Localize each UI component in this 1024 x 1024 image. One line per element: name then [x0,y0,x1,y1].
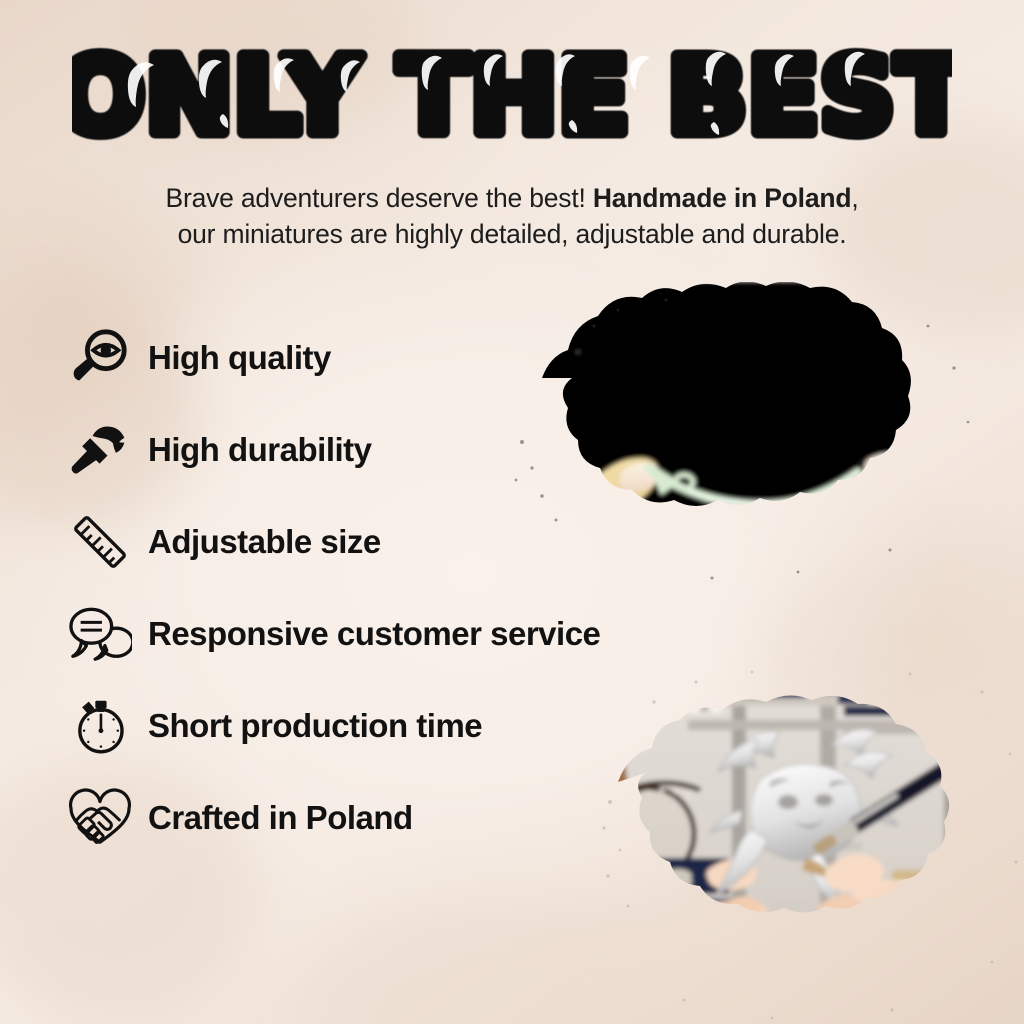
subtitle-line1-tail: , [851,183,858,213]
feature-label: Adjustable size [148,523,381,561]
speech-bubbles-icon [64,599,136,669]
feature-label: Crafted in Poland [148,799,413,837]
subtitle-line2: our miniatures are highly detailed, adju… [178,219,847,249]
painting-workshop-photo [592,662,1024,1024]
subtitle-line1-lead: Brave adventurers deserve the best! [165,183,585,213]
subtitle-highlight: Handmade in Poland [593,183,852,213]
subtitle: Brave adventurers deserve the best! Hand… [62,180,962,252]
hammer-icon [64,415,136,485]
page-title: ONLY THE BEST [0,36,1024,166]
feature-label: High durability [148,431,372,469]
feature-label: High quality [148,339,331,377]
feature-label: Responsive customer service [148,615,600,653]
ruler-icon [64,507,136,577]
flexible-miniature-photo [498,282,994,588]
stopwatch-icon [64,691,136,761]
heart-handshake-icon [64,783,136,853]
feature-label: Short production time [148,707,482,745]
promo-poster: ONLY THE BEST Brave adventurers de [0,0,1024,1024]
magnifier-eye-icon [64,323,136,393]
